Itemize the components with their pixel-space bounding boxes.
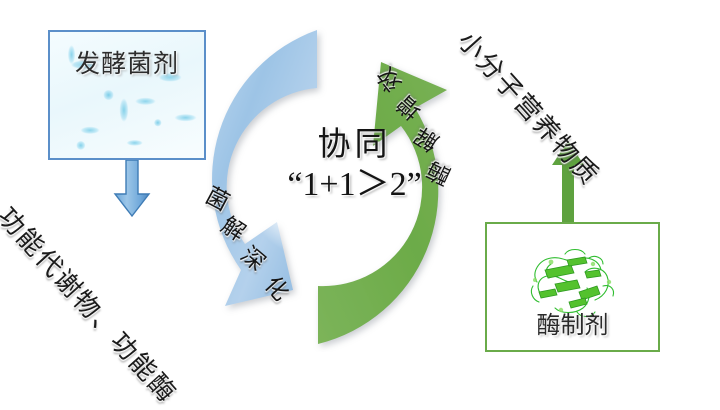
- ferment-inoculant-card: 发酵菌剂: [48, 30, 206, 160]
- left-output-label: 功能代谢物、功能酶: [0, 198, 187, 410]
- enzyme-preparation-card: 酶制剂: [485, 222, 660, 352]
- ferment-inoculant-label: 发酵菌剂: [50, 44, 204, 80]
- cycle-arrows-group: [185, 22, 450, 352]
- diagram-canvas: 发酵菌剂: [0, 0, 720, 407]
- green-up-arrow-icon: [551, 140, 585, 224]
- right-output-label: 小分子营养物质: [451, 22, 610, 192]
- enzyme-preparation-label: 酶制剂: [487, 305, 658, 340]
- blue-down-arrow-icon: [112, 160, 152, 218]
